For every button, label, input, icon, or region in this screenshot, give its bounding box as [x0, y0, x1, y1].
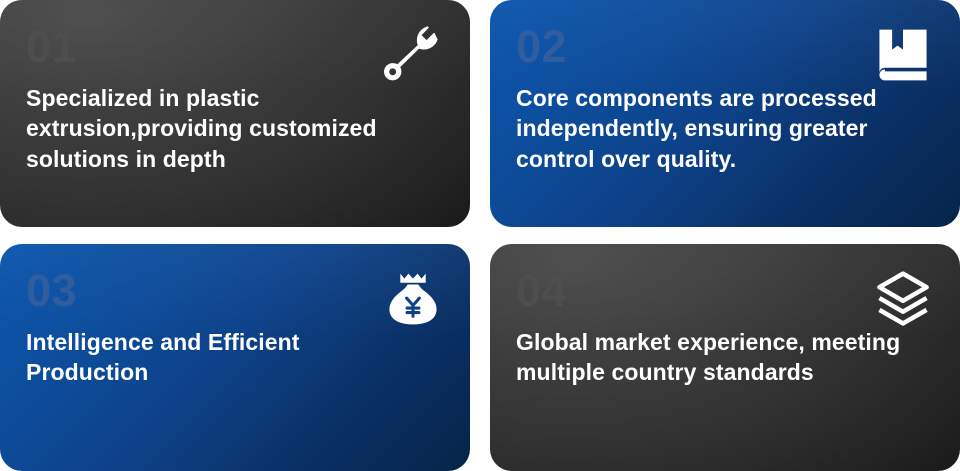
card-title-03: Intelligence and Efficient Production: [26, 327, 426, 388]
card-number-04: 04: [516, 268, 934, 313]
feature-card-04[interactable]: 04 Global market experience, meeting mul…: [490, 244, 960, 471]
layers-stack-icon: [874, 270, 932, 328]
money-bag-yen-icon: [384, 270, 442, 328]
book-icon: [874, 26, 932, 84]
feature-card-03[interactable]: 03 Intelligence and Efficient Production: [0, 244, 470, 471]
card-title-04: Global market experience, meeting multip…: [516, 327, 934, 388]
feature-card-grid: 01 Specialized in plastic extrusion,prov…: [0, 0, 960, 459]
card-title-01: Specialized in plastic extrusion,providi…: [26, 83, 444, 174]
feature-card-02[interactable]: 02 Core components are processed indepen…: [490, 0, 960, 227]
card-number-02: 02: [516, 24, 934, 69]
card-number-01: 01: [26, 24, 444, 69]
card-number-03: 03: [26, 268, 444, 313]
wrench-icon-shape: [384, 26, 442, 84]
card-title-02: Core components are processed independen…: [516, 83, 934, 174]
feature-card-01[interactable]: 01 Specialized in plastic extrusion,prov…: [0, 0, 470, 227]
